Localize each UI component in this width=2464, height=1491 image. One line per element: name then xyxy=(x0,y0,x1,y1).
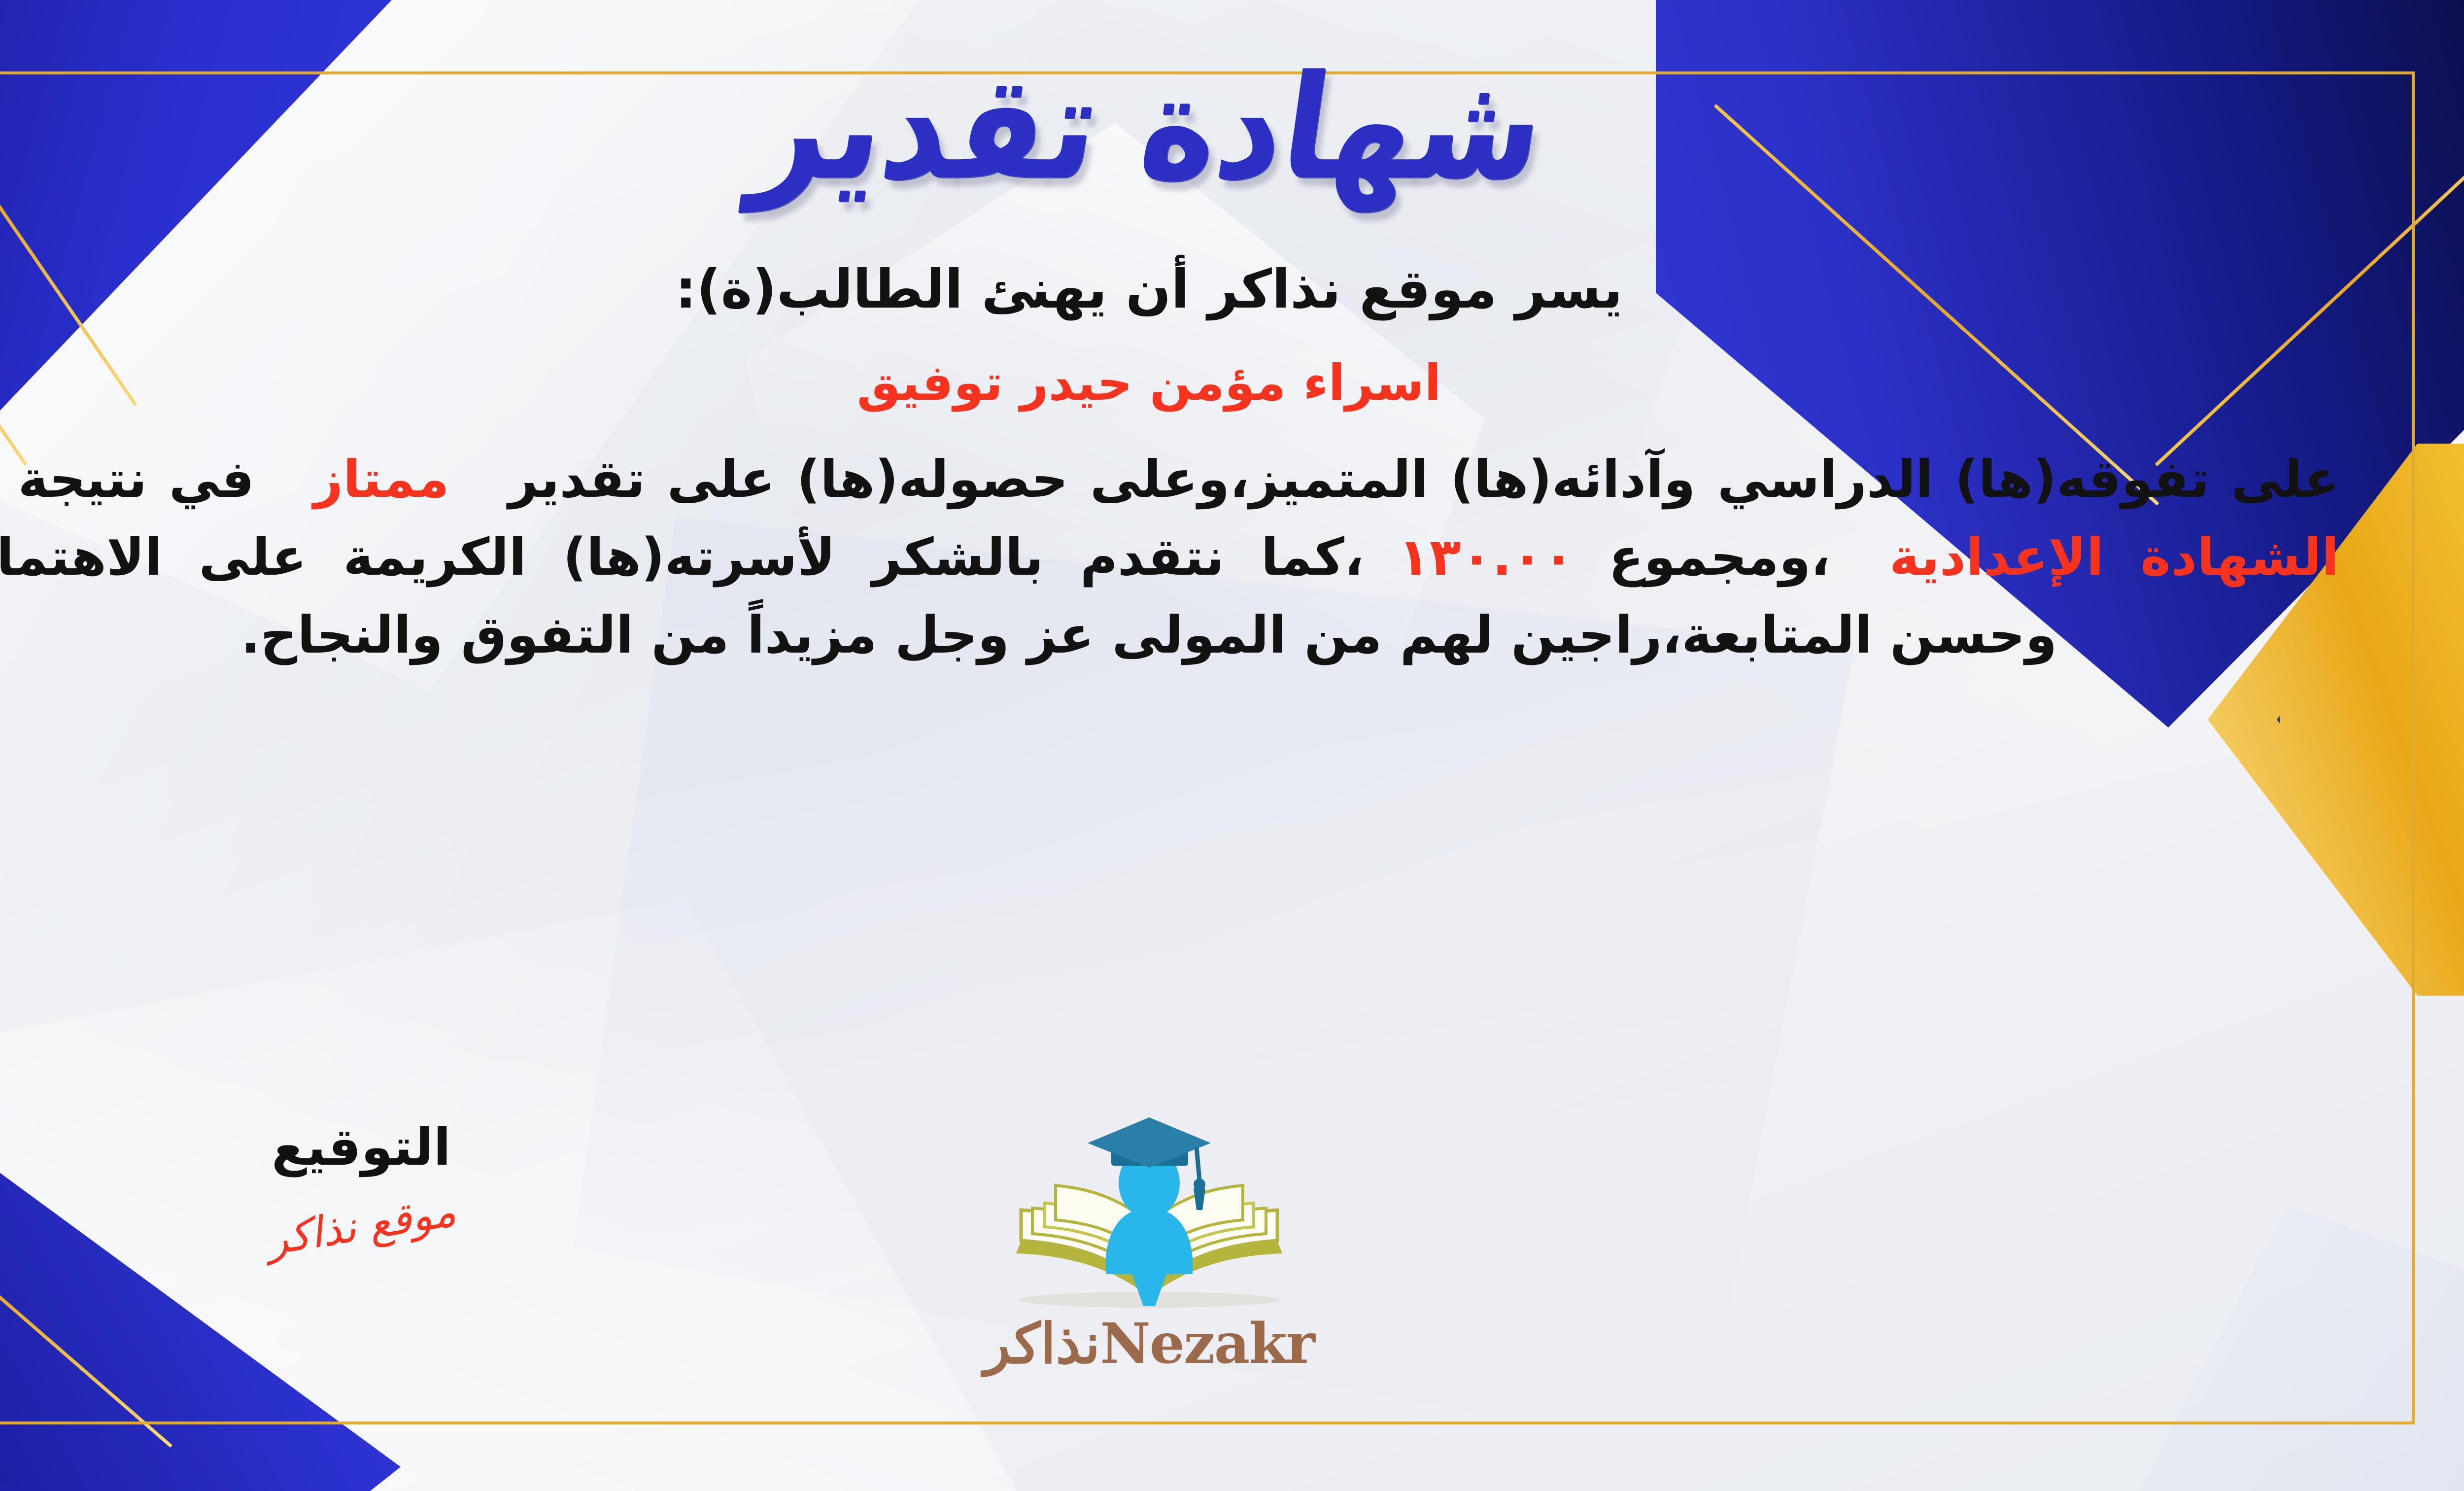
student-name: اسراء مؤمن حيدر توفيق xyxy=(0,348,2339,417)
logo-wordmark-latin: Nezakr xyxy=(1100,1312,1314,1376)
body-segment-total-label: ،ومجموع xyxy=(1608,527,1830,587)
signature-mark: موقع نذاكر xyxy=(264,1186,459,1265)
graduate-book-icon xyxy=(962,1111,1336,1309)
intro-line: يسر موقع نذاكر أن يهنئ الطالب(ة): xyxy=(0,251,2339,329)
brand-logo: Nezakrنذاكر xyxy=(962,1111,1336,1376)
body-paragraph: على تفوقه(ها) الدراسي وآدائه(ها) المتميز… xyxy=(0,440,2339,674)
exam-name: الشهادة الإعدادية xyxy=(1889,527,2339,587)
body-segment-achievement: على تفوقه(ها) الدراسي وآدائه(ها) المتميز… xyxy=(509,449,2339,509)
certificate-title: شهادة تقدير xyxy=(746,56,1553,200)
signature-block: التوقيع موقع نذاكر xyxy=(208,1121,514,1250)
logo-wordmark-arabic: نذاكر xyxy=(984,1312,1100,1376)
total-score: ١٣٠.٠٠ xyxy=(1399,527,1574,587)
grade-value: ممتاز xyxy=(313,449,449,509)
certificate-canvas: شهادة تقدير يسر موقع نذاكر أن يهنئ الطال… xyxy=(0,0,2464,1491)
body-segment-result: في نتيجة xyxy=(18,449,255,509)
signature-label: التوقيع xyxy=(208,1121,514,1173)
certificate-footer: التوقيع موقع نذاكر xyxy=(0,1111,2464,1417)
logo-wordmark: Nezakrنذاكر xyxy=(962,1312,1336,1376)
certificate-body: يسر موقع نذاكر أن يهنئ الطالب(ة): اسراء … xyxy=(0,251,2339,674)
